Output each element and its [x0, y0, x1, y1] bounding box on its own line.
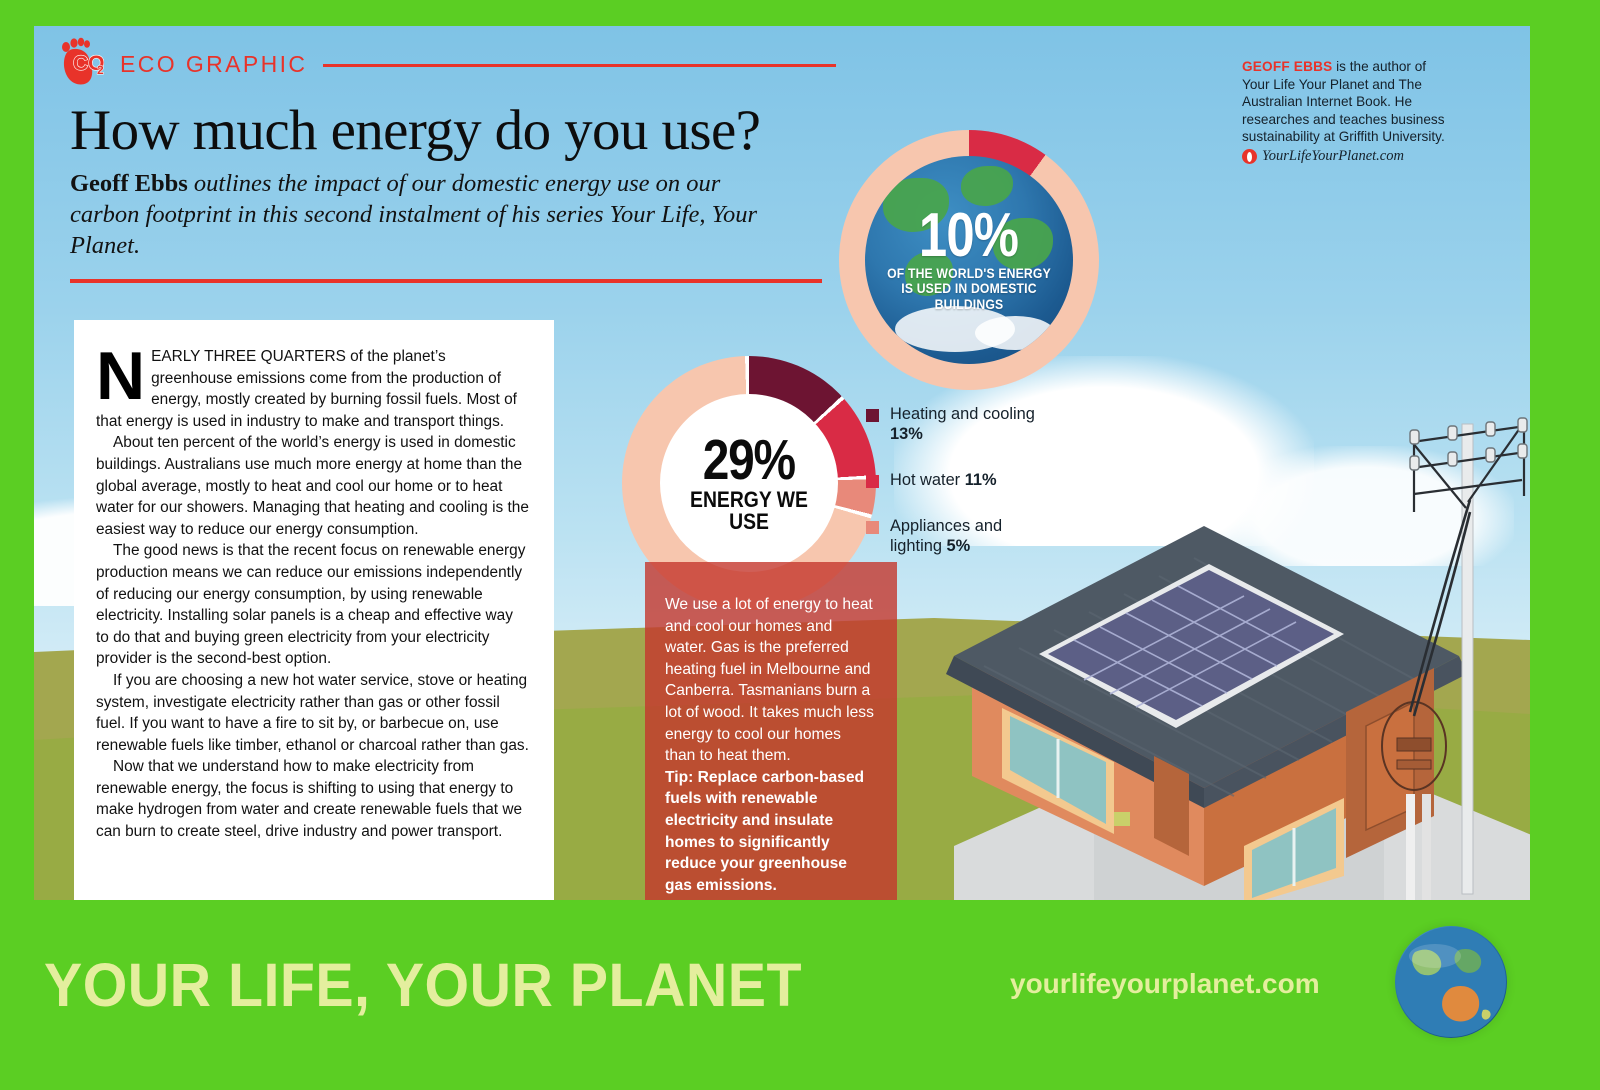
legend-label-text: Hot water	[890, 471, 965, 489]
chart-legend: Heating and cooling 13% Hot water 11% Ap…	[866, 404, 1056, 582]
drop-cap: N	[96, 348, 145, 404]
earth-globe-icon	[1395, 926, 1507, 1038]
legend-label-text: Heating and cooling	[890, 405, 1035, 423]
legend-label: Hot water 11%	[890, 470, 997, 490]
tip-highlight-text: Tip: Replace carbon-based fuels with ren…	[665, 767, 875, 897]
footer-url[interactable]: yourlifeyourplanet.com	[1010, 968, 1320, 1000]
article-paragraph-text: EARLY THREE QUARTERS of the planet’s gre…	[96, 348, 517, 430]
legend-label: Appliances and lighting 5%	[890, 516, 1056, 556]
author-url-text: YourLifeYourPlanet.com	[1262, 148, 1404, 166]
article-paragraph: NEARLY THREE QUARTERS of the planet’s gr…	[96, 346, 530, 432]
header-rule	[323, 64, 836, 67]
infographic-page: CO 2 ECO GRAPHIC How much energy do you …	[0, 0, 1600, 1090]
footer-title: YOUR LIFE, YOUR PLANET	[44, 950, 802, 1020]
co2-footprint-icon: CO 2	[56, 36, 104, 92]
author-name: GEOFF EBBS	[1242, 59, 1332, 74]
legend-label: Heating and cooling 13%	[890, 404, 1056, 444]
author-bio: GEOFF EBBS is the author of Your Life Yo…	[1242, 58, 1452, 166]
svg-text:2: 2	[97, 63, 104, 77]
article-paragraph: About ten percent of the world’s energy …	[96, 432, 530, 540]
legend-value: 5%	[947, 537, 971, 555]
article-paragraph: The good news is that the recent focus o…	[96, 540, 530, 670]
donut-caption: OF THE WORLD'S ENERGY IS USED IN DOMESTI…	[880, 267, 1059, 313]
donut-center-globe: 10% OF THE WORLD'S ENERGY IS USED IN DOM…	[865, 156, 1073, 364]
article-body: NEARLY THREE QUARTERS of the planet’s gr…	[74, 320, 554, 900]
legend-swatch-heating-cooling	[866, 409, 879, 422]
legend-swatch-appliances-lighting	[866, 521, 879, 534]
eco-graphic-header: CO 2 ECO GRAPHIC	[56, 36, 836, 92]
illustration-panel: CO 2 ECO GRAPHIC How much energy do you …	[34, 26, 1530, 900]
author-website[interactable]: YourLifeYourPlanet.com	[1242, 148, 1452, 166]
article-paragraph: If you are choosing a new hot water serv…	[96, 670, 530, 756]
world-energy-donut-chart: 10% OF THE WORLD'S ENERGY IS USED IN DOM…	[839, 130, 1099, 390]
article-paragraph: Now that we understand how to make elect…	[96, 756, 530, 842]
legend-value: 13%	[890, 425, 923, 443]
tip-callout-box: We use a lot of energy to heat and cool …	[645, 562, 897, 900]
red-globe-icon	[1242, 149, 1257, 164]
donut-center: 29% ENERGY WE USE	[660, 394, 838, 572]
legend-swatch-hot-water	[866, 475, 879, 488]
legend-value: 11%	[965, 471, 997, 489]
legend-item: Hot water 11%	[866, 470, 1056, 490]
tip-body-text: We use a lot of energy to heat and cool …	[665, 594, 875, 767]
subhead-author: Geoff Ebbs	[70, 170, 188, 197]
page-subtitle: Geoff Ebbs outlines the impact of our do…	[70, 168, 780, 261]
donut-caption: ENERGY WE USE	[672, 489, 825, 533]
legend-item: Appliances and lighting 5%	[866, 516, 1056, 556]
title-divider	[70, 279, 822, 283]
donut-value: 10%	[919, 207, 1018, 265]
globe-cloud	[975, 316, 1055, 350]
eco-graphic-label: ECO GRAPHIC	[120, 51, 307, 78]
legend-item: Heating and cooling 13%	[866, 404, 1056, 444]
donut-value: 29%	[703, 434, 795, 486]
footer-banner: YOUR LIFE, YOUR PLANET yourlifeyourplane…	[0, 910, 1600, 1090]
page-title: How much energy do you use?	[70, 98, 890, 163]
